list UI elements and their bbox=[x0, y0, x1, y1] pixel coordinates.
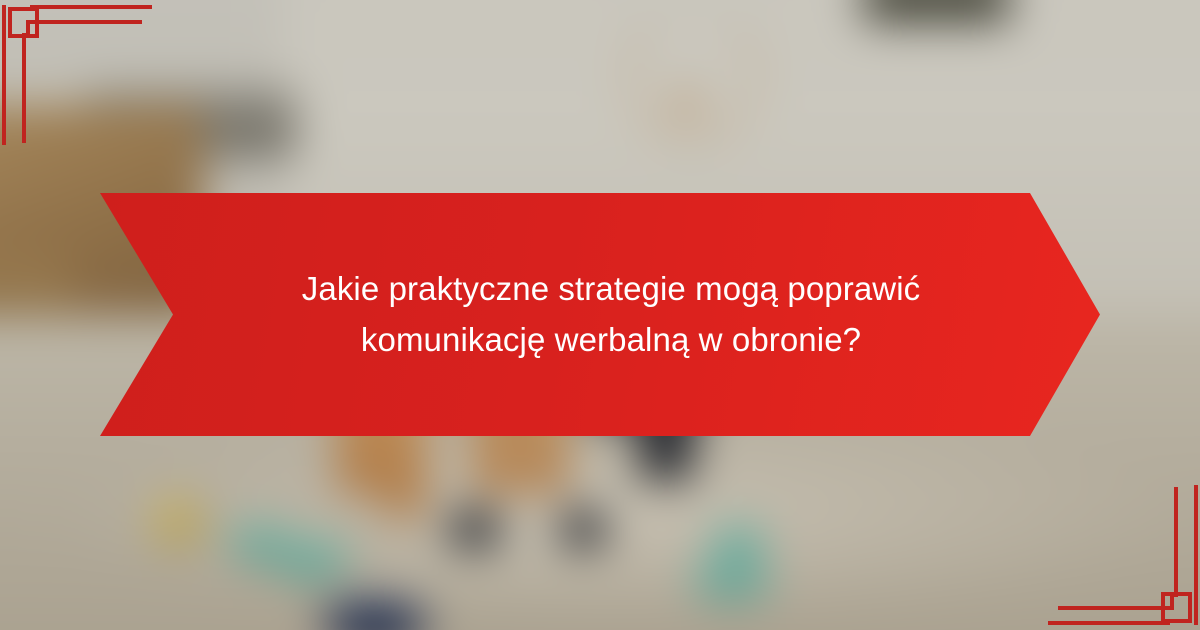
ornament-line bbox=[1174, 487, 1178, 597]
corner-ornament-top-left bbox=[0, 0, 160, 175]
background-shoe bbox=[560, 510, 606, 548]
background-shoe bbox=[230, 525, 289, 563]
background-shoe bbox=[692, 563, 771, 601]
ornament-line bbox=[1058, 606, 1156, 610]
corner-ornament-bottom-right bbox=[1040, 455, 1200, 630]
ornament-line bbox=[1194, 485, 1198, 600]
background-shoe bbox=[712, 525, 765, 563]
headline-text: Jakie praktyczne strategie mogą poprawić… bbox=[231, 264, 991, 364]
ornament-line bbox=[2, 5, 6, 33]
ornament-line bbox=[1194, 597, 1198, 625]
ornament-line bbox=[22, 33, 26, 143]
ornament-line bbox=[30, 5, 152, 9]
background-floor-sheen bbox=[46, 405, 1200, 630]
background-shoe bbox=[448, 510, 501, 548]
social-card: Jakie praktyczne strategie mogą poprawić… bbox=[0, 0, 1200, 630]
ornament-line bbox=[44, 20, 142, 24]
ornament-line bbox=[2, 30, 6, 145]
headline-banner: Jakie praktyczne strategie mogą poprawić… bbox=[100, 193, 1100, 436]
ornament-line bbox=[1048, 621, 1170, 625]
background-wall-marking-dot bbox=[666, 83, 708, 124]
ornament-line bbox=[1170, 594, 1174, 610]
background-ball bbox=[151, 495, 204, 548]
ornament-line bbox=[26, 20, 30, 36]
background-wall-sign bbox=[864, 0, 1009, 23]
